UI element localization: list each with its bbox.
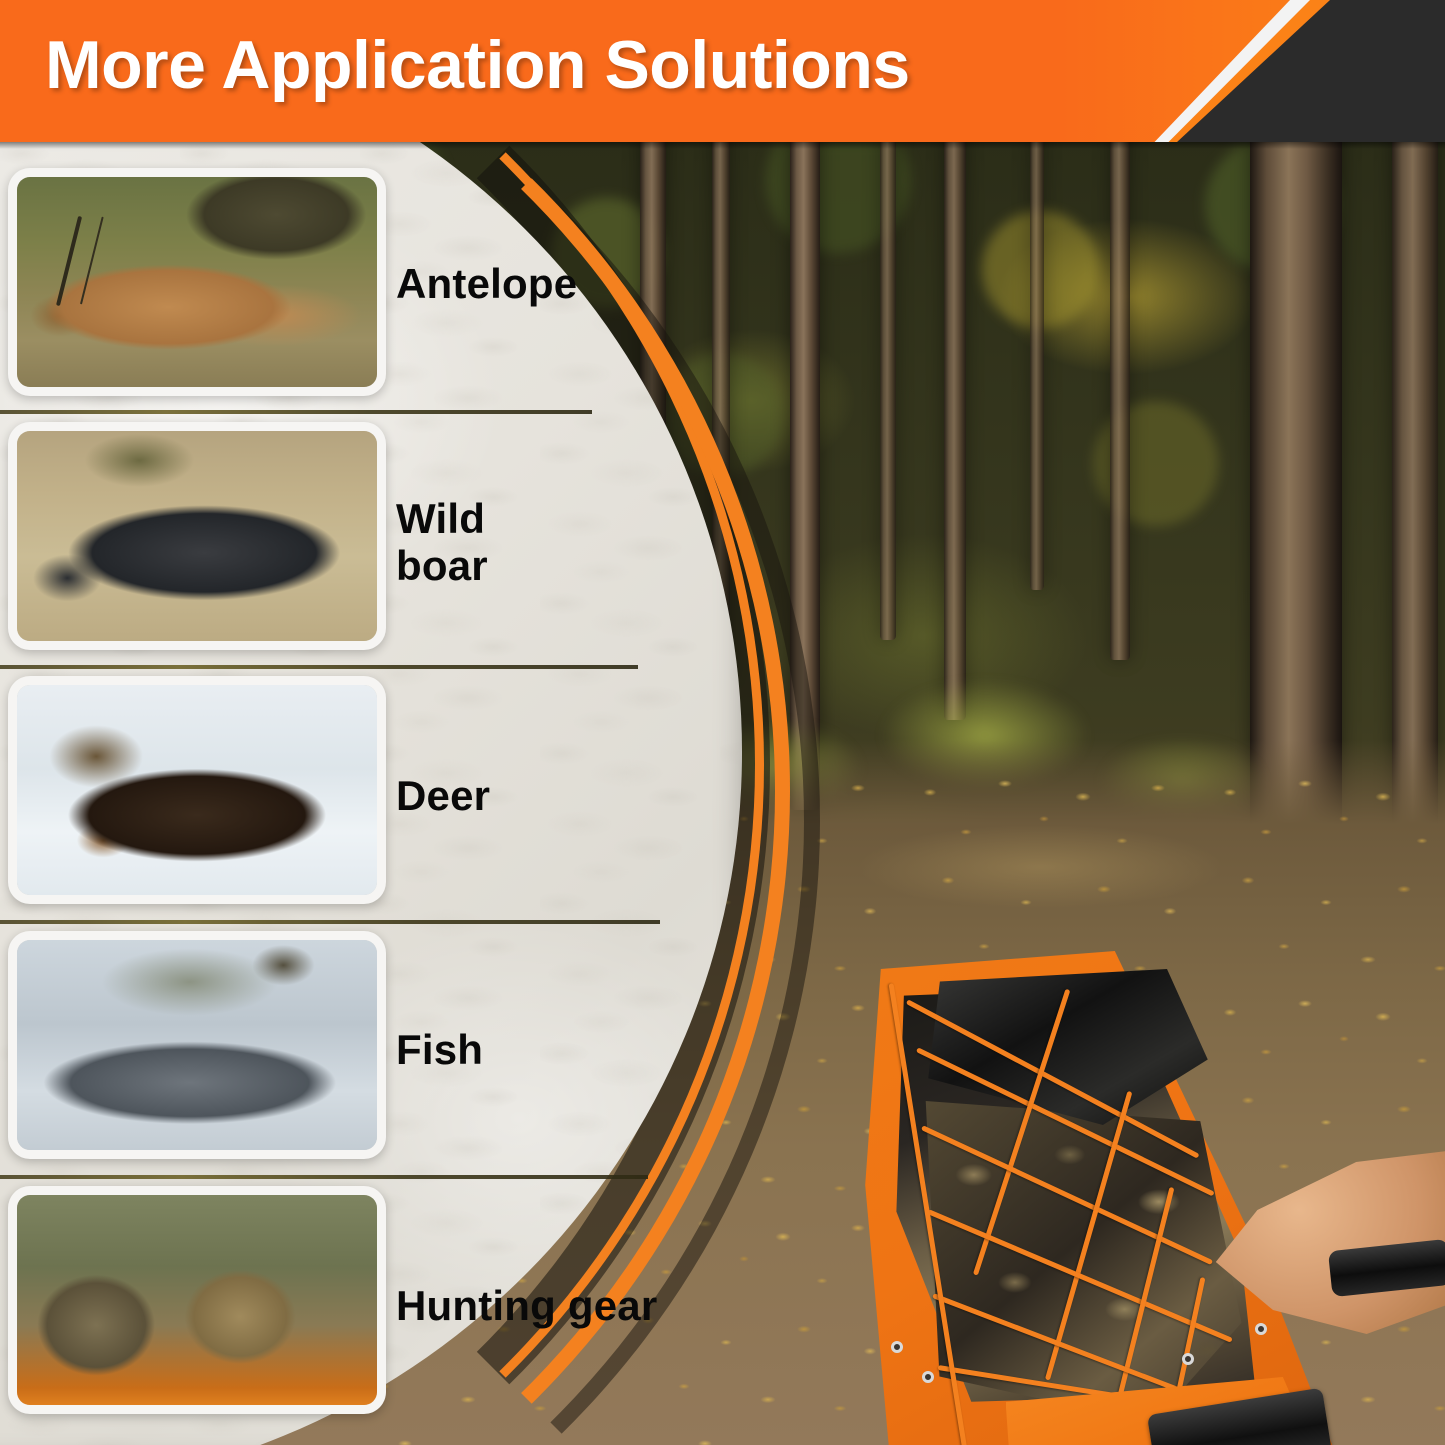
application-label-antelope: Antelope <box>396 260 577 307</box>
row-divider <box>0 1175 648 1179</box>
fish-photo <box>17 940 377 1150</box>
wild-boar-photo <box>17 431 377 641</box>
page-title: More Application Solutions <box>45 26 910 104</box>
thumbnail-fish[interactable] <box>8 931 386 1159</box>
label-line-1: Wild <box>396 495 485 542</box>
thumbnail-hunting-gear[interactable] <box>8 1186 386 1414</box>
tree-trunk <box>1030 140 1044 590</box>
application-label-deer: Deer <box>396 772 490 819</box>
antelope-photo <box>17 177 377 387</box>
product-infographic: Antelope Wild boar Deer Fish Hunting gea… <box>0 0 1445 1445</box>
row-divider <box>0 410 592 414</box>
hunting-gear-photo <box>17 1195 377 1405</box>
deer-photo <box>17 685 377 895</box>
thumbnail-deer[interactable] <box>8 676 386 904</box>
row-divider <box>0 920 660 924</box>
application-label-wild-boar: Wild boar <box>396 495 488 589</box>
application-label-hunting-gear: Hunting gear <box>396 1282 657 1329</box>
application-label-fish: Fish <box>396 1026 483 1073</box>
header-drop-shadow <box>0 142 1445 149</box>
thumbnail-wild-boar[interactable] <box>8 422 386 650</box>
header-banner: More Application Solutions <box>0 0 1445 142</box>
thumbnail-antelope[interactable] <box>8 168 386 396</box>
tree-trunk <box>880 140 896 640</box>
row-divider <box>0 665 638 669</box>
label-line-2: boar <box>396 542 488 589</box>
